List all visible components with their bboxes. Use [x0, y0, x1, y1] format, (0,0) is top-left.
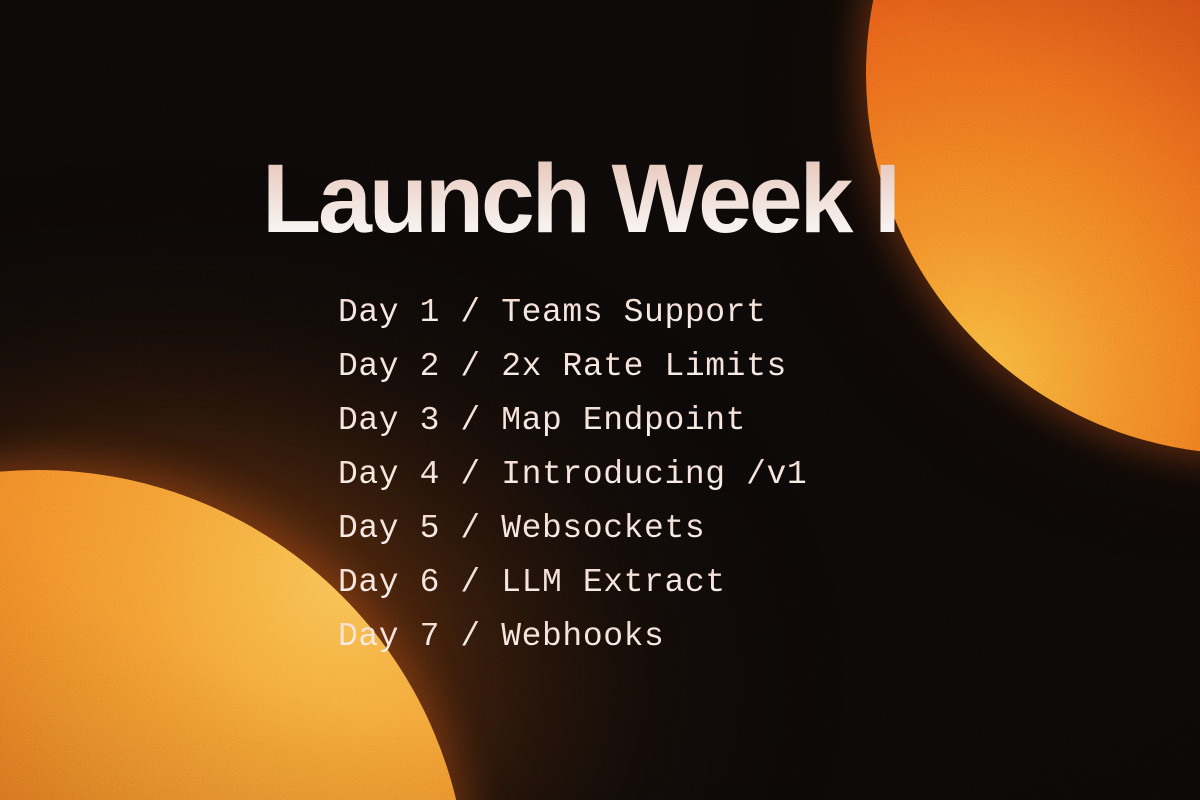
- list-item: Day 7 / Webhooks: [338, 610, 807, 664]
- list-item: Day 5 / Websockets: [338, 502, 807, 556]
- list-item: Day 1 / Teams Support: [338, 286, 807, 340]
- page-title: Launch Week I: [262, 150, 898, 247]
- list-item: Day 3 / Map Endpoint: [338, 394, 807, 448]
- poster-canvas: Launch Week I Day 1 / Teams Support Day …: [0, 0, 1200, 800]
- launch-schedule-list: Day 1 / Teams Support Day 2 / 2x Rate Li…: [338, 286, 807, 664]
- list-item: Day 4 / Introducing /v1: [338, 448, 807, 502]
- list-item: Day 6 / LLM Extract: [338, 556, 807, 610]
- poster-content: Launch Week I Day 1 / Teams Support Day …: [0, 0, 1200, 800]
- list-item: Day 2 / 2x Rate Limits: [338, 340, 807, 394]
